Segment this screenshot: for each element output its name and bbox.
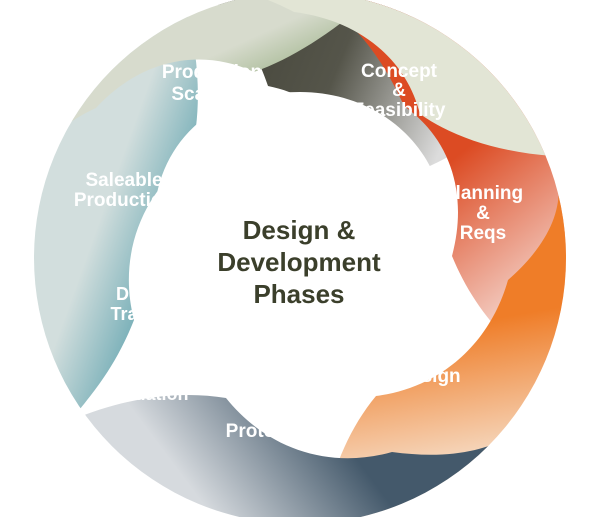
svg-text:&: & — [392, 80, 406, 101]
svg-text:Design: Design — [116, 284, 176, 304]
segment-6-label: Production Scale-Up — [162, 62, 262, 105]
svg-text:Saleable: Saleable — [85, 170, 162, 191]
center-line-2: Development — [217, 247, 381, 277]
svg-text:Scale-Up: Scale-Up — [171, 84, 252, 105]
svg-text:Concept: Concept — [361, 61, 438, 82]
svg-text:Prototype: Prototype — [226, 421, 315, 442]
svg-text:&: & — [476, 203, 490, 224]
design-development-phases-diagram: Concept & Feasibility 0 Planning & Reqs … — [0, 0, 600, 517]
svg-text:&: & — [140, 324, 153, 344]
segment-5-number: 5 — [186, 200, 200, 230]
svg-text:Planning: Planning — [443, 183, 523, 204]
segment-0-number: 0 — [406, 204, 420, 234]
svg-text:Production: Production — [162, 62, 262, 83]
center-line-1: Design & — [243, 215, 356, 245]
segment-2-label: Design — [397, 366, 460, 387]
segment-2-number: 2 — [299, 353, 313, 383]
segment-5-label: Saleable Production — [74, 170, 174, 211]
svg-text:Mfg: Mfg — [130, 344, 162, 364]
segment-1-number: 1 — [384, 305, 398, 335]
segment-5-number-alt: 5 — [242, 137, 256, 167]
svg-text:Production: Production — [74, 190, 174, 211]
segment-6-number: 6 — [345, 139, 359, 169]
svg-text:Feasibility: Feasibility — [353, 100, 446, 121]
segment-3-number: 3 — [197, 307, 211, 337]
segment-3-label: Prototype — [226, 421, 315, 442]
svg-text:Validation: Validation — [103, 384, 188, 404]
svg-text:Process: Process — [111, 364, 181, 384]
svg-text:Design: Design — [397, 366, 460, 387]
svg-text:Reqs: Reqs — [460, 223, 506, 244]
phase-wheel-svg: Concept & Feasibility 0 Planning & Reqs … — [0, 0, 600, 517]
svg-text:Transfer: Transfer — [110, 304, 181, 324]
center-line-3: Phases — [253, 279, 344, 309]
